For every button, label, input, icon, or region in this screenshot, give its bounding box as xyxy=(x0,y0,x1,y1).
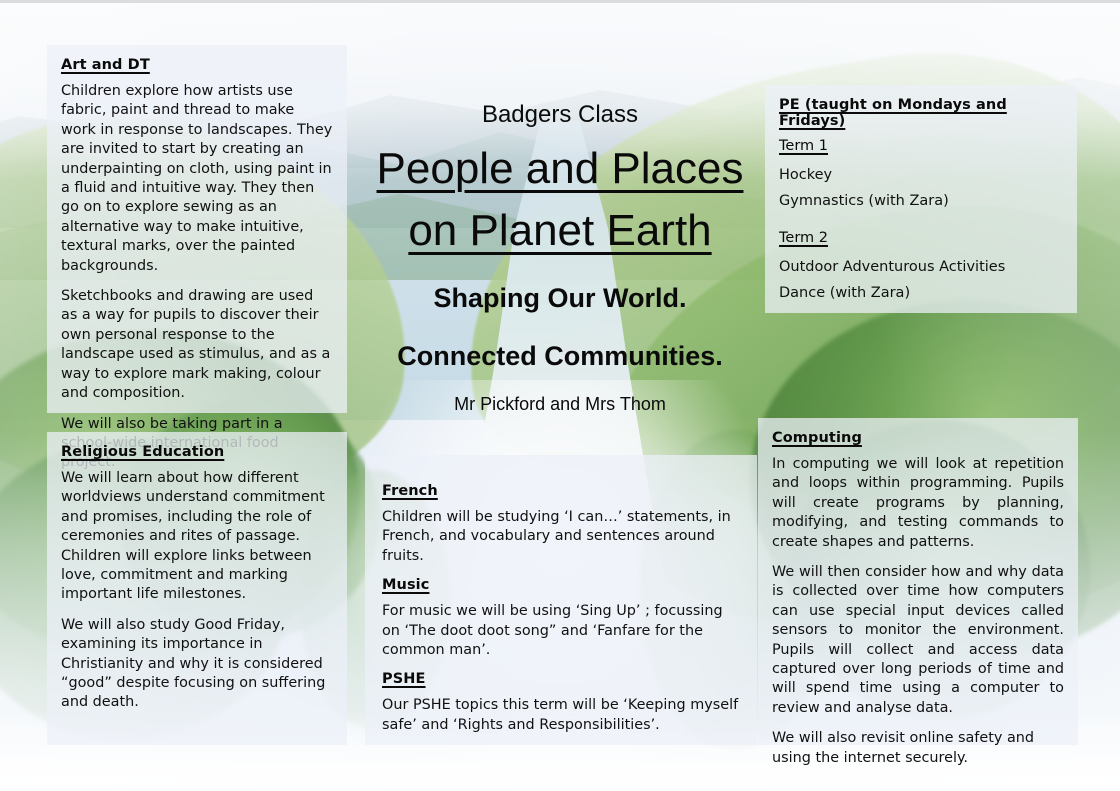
pe-term-spacer xyxy=(779,214,1063,230)
pe-term2-item-1: Outdoor Adventurous Activities xyxy=(779,254,1063,280)
pe-heading: PE (taught on Mondays and Fridays) xyxy=(779,97,1063,129)
pshe-heading: PSHE xyxy=(382,671,740,687)
staff-names: Mr Pickford and Mrs Thom xyxy=(340,390,780,418)
computing-heading: Computing xyxy=(772,430,1064,446)
subtitle-line-2: Connected Communities. xyxy=(340,334,780,378)
pe-term1-item-1: Hockey xyxy=(779,162,1063,188)
pe-term1-label: Term 1 xyxy=(779,138,1063,154)
art-paragraph-2: Sketchbooks and drawing are used as a wa… xyxy=(61,287,333,403)
computing-paragraph-3: We will also revisit online safety and u… xyxy=(772,729,1064,768)
subtitle-line-1: Shaping Our World. xyxy=(340,276,780,320)
re-heading: Religious Education xyxy=(61,444,333,460)
title-block: Badgers Class People and Places on Plane… xyxy=(340,100,780,418)
panel-computing: Computing In computing we will look at r… xyxy=(758,418,1078,745)
music-heading: Music xyxy=(382,577,740,593)
main-title-line-1: People and Places xyxy=(340,138,780,200)
pshe-text: Our PSHE topics this term will be ‘Keepi… xyxy=(382,696,740,735)
pe-term2-label: Term 2 xyxy=(779,230,1063,246)
re-paragraph-1: We will learn about how different worldv… xyxy=(61,469,333,605)
top-edge-line xyxy=(0,0,1120,3)
topic-web-poster: Badgers Class People and Places on Plane… xyxy=(0,0,1120,791)
class-name: Badgers Class xyxy=(340,100,780,130)
panel-french-music-pshe: French Children will be studying ‘I can…… xyxy=(365,455,757,745)
computing-paragraph-2: We will then consider how and why data i… xyxy=(772,563,1064,718)
french-text: Children will be studying ‘I can…’ state… xyxy=(382,508,740,566)
panel-religious-education: Religious Education We will learn about … xyxy=(47,432,347,745)
main-title-line-2: on Planet Earth xyxy=(340,200,780,262)
art-heading: Art and DT xyxy=(61,57,333,73)
art-paragraph-1: Children explore how artists use fabric,… xyxy=(61,82,333,276)
re-paragraph-2: We will also study Good Friday, examinin… xyxy=(61,616,333,713)
pe-term2-item-2: Dance (with Zara) xyxy=(779,280,1063,306)
panel-pe: PE (taught on Mondays and Fridays) Term … xyxy=(765,85,1077,313)
french-heading: French xyxy=(382,483,740,499)
music-text: For music we will be using ‘Sing Up’ ; f… xyxy=(382,602,740,660)
computing-paragraph-1: In computing we will look at repetition … xyxy=(772,455,1064,552)
panel-art-and-dt: Art and DT Children explore how artists … xyxy=(47,45,347,413)
pe-term1-item-2: Gymnastics (with Zara) xyxy=(779,188,1063,214)
